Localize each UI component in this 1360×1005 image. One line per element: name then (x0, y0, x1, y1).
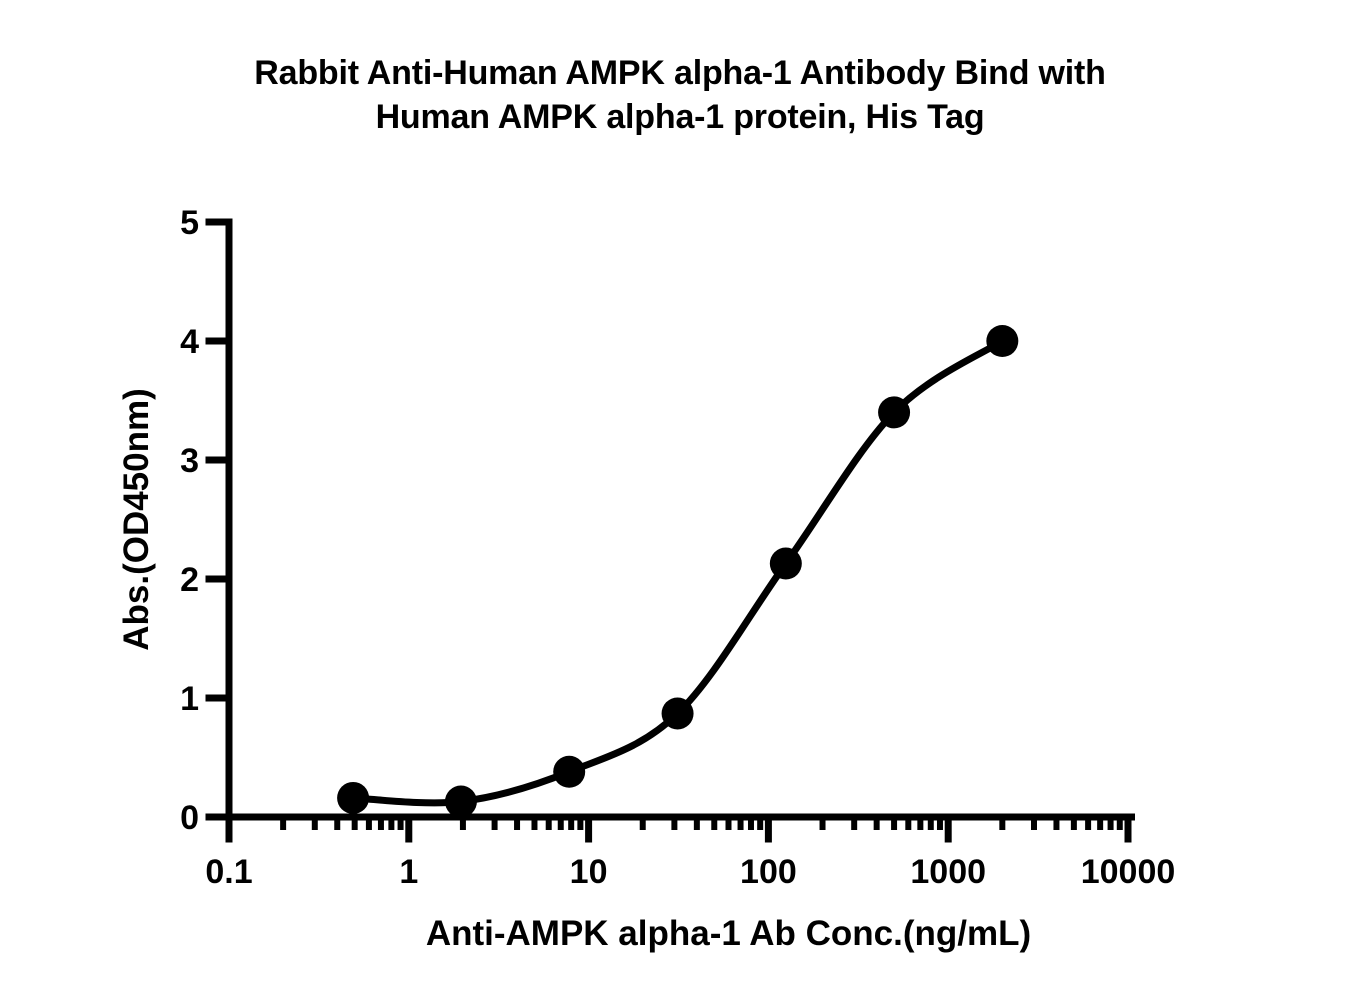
x-tick-label: 10 (570, 853, 608, 891)
x-tick-label: 100 (740, 853, 797, 891)
data-point-marker[interactable] (337, 782, 369, 814)
x-tick-label: 0.1 (205, 853, 252, 891)
y-tick-label: 3 (180, 442, 199, 480)
data-point-marker[interactable] (445, 786, 477, 818)
y-tick-label: 4 (180, 323, 199, 361)
y-tick-label: 5 (180, 204, 199, 242)
data-point-marker[interactable] (770, 548, 802, 580)
data-point-marker[interactable] (662, 697, 694, 729)
y-axis-title: Abs.(OD450nm) (117, 388, 156, 651)
y-tick-label: 1 (180, 680, 199, 718)
data-point-marker[interactable] (986, 325, 1018, 357)
data-point-marker[interactable] (553, 756, 585, 788)
x-axis-title: Anti-AMPK alpha-1 Ab Conc.(ng/mL) (426, 914, 1031, 953)
elisa-binding-curve-plot: 0123450.1110100100010000Anti-AMPK alpha-… (0, 0, 1360, 1005)
chart-figure: Rabbit Anti-Human AMPK alpha-1 Antibody … (0, 0, 1360, 1005)
x-tick-label: 1 (399, 853, 418, 891)
data-point-marker[interactable] (878, 396, 910, 428)
y-tick-label: 2 (180, 561, 199, 599)
x-tick-label: 1000 (910, 853, 986, 891)
y-tick-label: 0 (180, 799, 199, 837)
x-tick-label: 10000 (1081, 853, 1176, 891)
